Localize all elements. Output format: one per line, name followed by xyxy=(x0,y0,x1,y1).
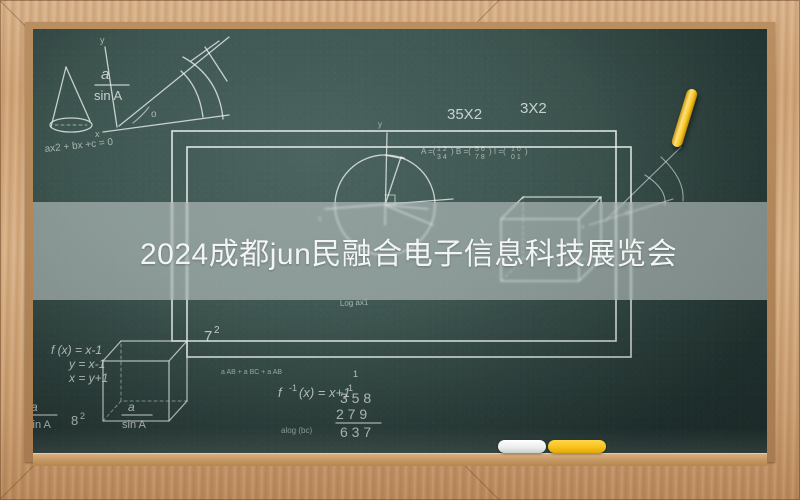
yellow-chalk xyxy=(548,440,606,453)
chalk-ledge xyxy=(33,453,767,466)
poster-canvas: .ck{fill:none;stroke:#e8efec;stroke-opac… xyxy=(0,0,800,500)
page-title: 2024成都jun民融合电子信息科技展览会 xyxy=(33,202,767,300)
chalk-dust-haze xyxy=(33,428,767,454)
white-chalk xyxy=(498,440,546,453)
